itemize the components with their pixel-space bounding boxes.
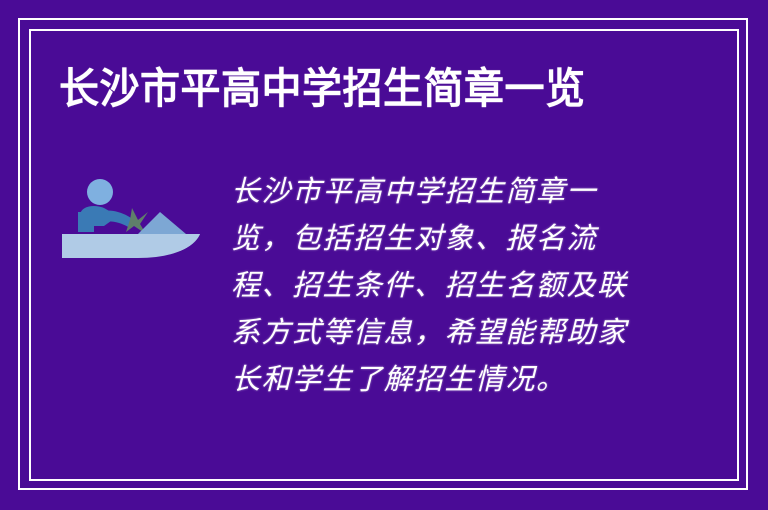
poster-title: 长沙市平高中学招生简章一览 — [59, 64, 586, 114]
poster-body-paragraph: 长沙市平高中学招生简章一览，包括招生对象、报名流程、招生条件、招生名额及联系方式… — [231, 168, 631, 403]
boat-illustration-svg — [60, 168, 212, 278]
person-head-icon — [87, 179, 113, 205]
boat-bow-icon — [180, 234, 200, 251]
boat-hull-icon — [62, 234, 200, 258]
boat-illustration — [60, 168, 212, 278]
poster-canvas: 长沙市平高中学招生简章一览 长沙市平高中学招生简章一览，包括招生对象、报名流程、… — [0, 0, 768, 510]
person-body-icon — [78, 212, 94, 232]
